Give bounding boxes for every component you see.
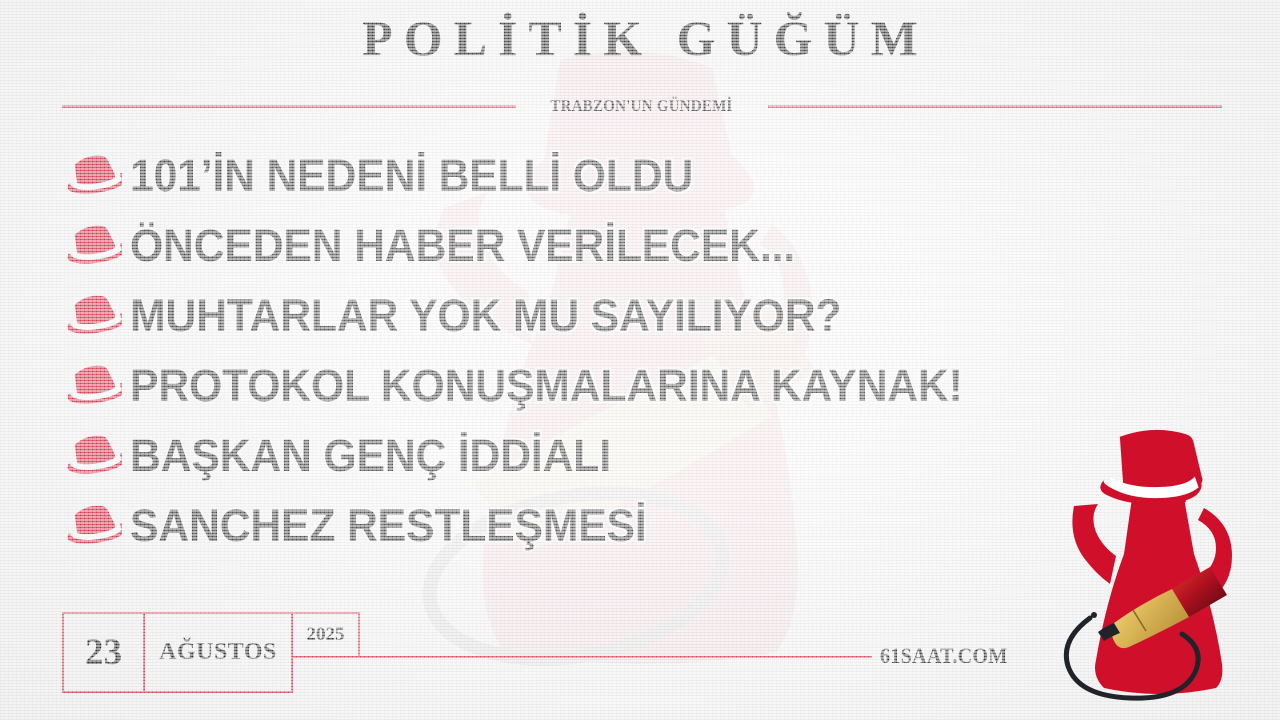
headline-text: SANCHEZ RESTLEŞMESİ <box>130 503 647 548</box>
red-hat-icon <box>62 361 122 409</box>
gugum-teapot-logo <box>1054 426 1268 716</box>
list-item[interactable]: PROTOKOL KONUŞMALARINA KAYNAK! <box>62 350 1222 420</box>
list-item[interactable]: SANCHEZ RESTLEŞMESİ <box>62 490 1222 560</box>
poster-canvas: POLİTİK GÜĞÜM TRABZON'UN GÜNDEMİ 101’İN … <box>0 0 1280 720</box>
date-year: 2025 <box>293 612 360 658</box>
headline-text: MUHTARLAR YOK MU SAYILIYOR? <box>130 293 841 338</box>
list-item[interactable]: ÖNCEDEN HABER VERİLECEK... <box>62 210 1222 280</box>
masthead: POLİTİK GÜĞÜM <box>0 12 1280 65</box>
date-day: 23 <box>62 612 145 693</box>
site-url[interactable]: 61SAAT.COM <box>880 643 1008 669</box>
subtitle-text: TRABZON'UN GÜNDEMİ <box>532 96 753 116</box>
subtitle-rule-left <box>62 105 516 108</box>
page-title: POLİTİK GÜĞÜM <box>0 12 1280 65</box>
headline-list: 101’İN NEDENİ BELLİ OLDU ÖNCEDEN HABER V… <box>62 140 1222 560</box>
date-stamp: 23 AĞUSTOS 2025 <box>62 612 293 693</box>
subtitle-bar: TRABZON'UN GÜNDEMİ <box>62 92 1222 120</box>
footer-rule <box>296 656 872 658</box>
subtitle-rule-right <box>768 105 1222 108</box>
red-hat-icon <box>62 501 122 549</box>
red-hat-icon <box>62 221 122 269</box>
date-month: AĞUSTOS <box>145 612 293 693</box>
red-hat-icon <box>62 151 122 199</box>
headline-text: ÖNCEDEN HABER VERİLECEK... <box>130 223 795 268</box>
list-item[interactable]: BAŞKAN GENÇ İDDİALI <box>62 420 1222 490</box>
list-item[interactable]: 101’İN NEDENİ BELLİ OLDU <box>62 140 1222 210</box>
red-hat-icon <box>62 431 122 479</box>
headline-text: BAŞKAN GENÇ İDDİALI <box>130 433 611 478</box>
headline-text: 101’İN NEDENİ BELLİ OLDU <box>130 153 693 198</box>
headline-text: PROTOKOL KONUŞMALARINA KAYNAK! <box>130 363 963 408</box>
red-hat-icon <box>62 291 122 339</box>
list-item[interactable]: MUHTARLAR YOK MU SAYILIYOR? <box>62 280 1222 350</box>
